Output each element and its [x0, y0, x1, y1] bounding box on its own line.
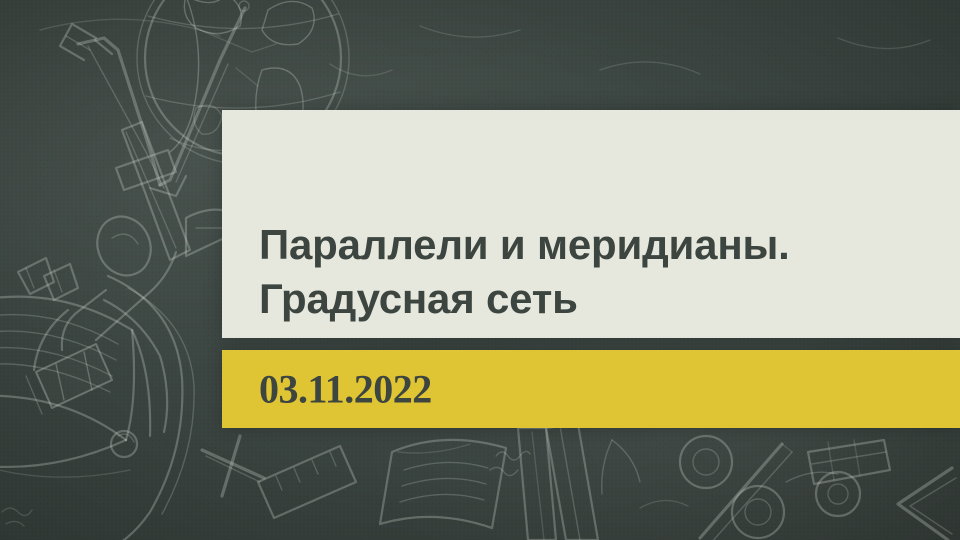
less-than-sign-icon	[898, 468, 956, 540]
title-slide: Параллели и меридианы. Градусная сеть 03…	[0, 0, 960, 540]
date-label: 03.11.2022	[259, 366, 432, 413]
date-bar: 03.11.2022	[222, 350, 960, 428]
percent-sign-icon	[680, 436, 792, 540]
title-panel: Параллели и меридианы. Градусная сеть	[222, 110, 960, 338]
paper-clip-icon	[18, 258, 78, 300]
page-title: Параллели и меридианы. Градусная сеть	[259, 218, 936, 326]
ribbon-swirl-icon	[100, 276, 194, 540]
plus-sign-icon	[202, 436, 264, 496]
eraser-icon	[808, 440, 890, 484]
ruler-icon	[258, 446, 356, 518]
pencil-icon	[518, 424, 598, 540]
compass-icon	[602, 440, 640, 494]
notebook-icon	[380, 440, 506, 528]
